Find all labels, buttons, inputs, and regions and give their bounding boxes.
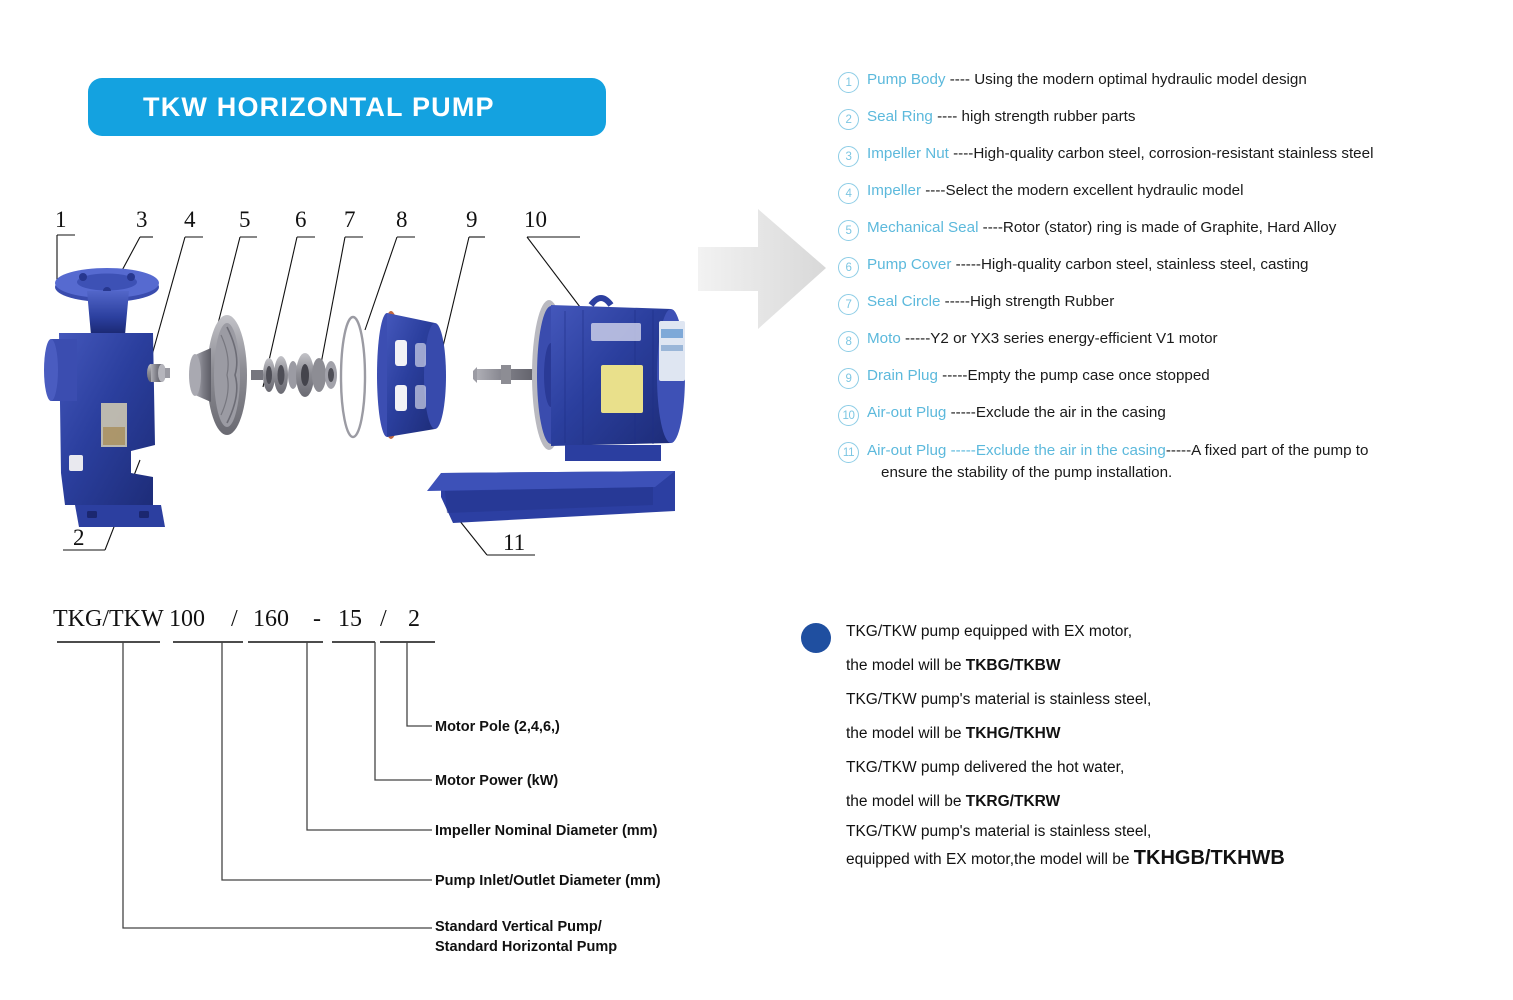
seal-circle-part [341, 317, 365, 437]
motor-part [427, 298, 685, 523]
callout-number-11: 11 [503, 530, 525, 555]
legend-number-circle: 9 [838, 368, 859, 389]
legend-separator: ----- [946, 442, 976, 459]
legend-separator: ----- [946, 404, 976, 421]
impeller-part [189, 315, 247, 435]
model-code-breakdown: TKG/TKW 100 / 160 - 15 / 2 Motor Pole (2… [35, 598, 735, 958]
legend-separator: ---- [921, 182, 945, 199]
legend-part-name: Seal Ring [867, 108, 933, 125]
note-line: TKG/TKW pump equipped with EX motor, [846, 615, 1421, 649]
legend-item: 10 Air-out Plug -----Exclude the air in … [838, 403, 1498, 426]
legend-number-circle: 5 [838, 220, 859, 241]
legend-item: 2 Seal Ring ---- high strength rubber pa… [838, 107, 1498, 130]
legend-separator: ----- [940, 293, 970, 310]
model-desc-standard-1: Standard Vertical Pump/ [435, 919, 602, 935]
legend-text: Pump Body ---- Using the modern optimal … [867, 70, 1498, 90]
note-model-code: TKBG/TKBW [966, 657, 1061, 674]
legend-item: 4 Impeller ----Select the modern excelle… [838, 181, 1498, 204]
note-line: the model will be TKBG/TKBW [846, 649, 1421, 683]
legend-text: Air-out Plug -----Exclude the air in the… [867, 403, 1498, 423]
callout-number-8: 8 [396, 207, 408, 232]
legend-number-circle: 3 [838, 146, 859, 167]
legend-description-line2: ensure the stability of the pump install… [867, 462, 1498, 484]
legend-separator: ----- [951, 256, 981, 273]
note-model-code-large: TKHGB/TKHWB [1134, 847, 1285, 869]
model-token-impeller: 160 [253, 606, 289, 632]
legend-separator: ---- [978, 219, 1002, 236]
note-text: the model will be [846, 725, 966, 742]
pump-body-part [44, 268, 165, 527]
note-line: equipped with EX motor,the model will be… [846, 845, 1421, 873]
legend-item: 1 Pump Body ---- Using the modern optima… [838, 70, 1498, 93]
model-desc-motor-power: Motor Power (kW) [435, 773, 558, 789]
note-line: the model will be TKHG/TKHW [846, 717, 1421, 751]
model-token-pole: 2 [408, 606, 420, 632]
legend-separator: ---- [949, 145, 973, 162]
legend-part-name: Air-out Plug [867, 404, 946, 421]
bullet-circle-icon [801, 623, 831, 653]
note-model-code: TKHG/TKHW [966, 725, 1061, 742]
note-text: the model will be [846, 793, 966, 810]
legend-number-circle: 7 [838, 294, 859, 315]
note-text: TKG/TKW pump's material is stainless ste… [846, 823, 1151, 840]
legend-separator-2: ----- [1166, 442, 1191, 459]
note-model-code: TKRG/TKRW [966, 793, 1060, 810]
pump-cover-part [377, 311, 446, 439]
page-title: TKW HORIZONTAL PUMP [143, 92, 495, 123]
legend-text: Seal Ring ---- high strength rubber part… [867, 107, 1498, 127]
callout-number-5: 5 [239, 207, 251, 232]
callout-number-4: 4 [184, 207, 196, 232]
legend-text: Moto -----Y2 or YX3 series energy-effici… [867, 329, 1498, 349]
legend-part-name: Impeller [867, 182, 921, 199]
legend-part-name: Moto [867, 330, 901, 347]
legend-description-blue: Exclude the air in the casing [976, 442, 1166, 459]
legend-text: Drain Plug -----Empty the pump case once… [867, 366, 1498, 386]
callout-number-1: 1 [55, 207, 67, 232]
legend-number-circle: 4 [838, 183, 859, 204]
exploded-pump-diagram: 1 3 4 5 6 7 8 9 10 2 11 [35, 205, 695, 570]
note-line: TKG/TKW pump's material is stainless ste… [846, 683, 1421, 717]
model-desc-inlet-dia: Pump Inlet/Outlet Diameter (mm) [435, 873, 661, 889]
legend-text: Seal Circle -----High strength Rubber [867, 292, 1498, 312]
legend-item: 5 Mechanical Seal ----Rotor (stator) rin… [838, 218, 1498, 241]
legend-description: Using the modern optimal hydraulic model… [974, 71, 1307, 88]
note-line: the model will be TKRG/TKRW [846, 785, 1421, 819]
legend-number-circle: 11 [838, 442, 859, 463]
legend-part-name: Pump Cover [867, 256, 951, 273]
legend-item: 7 Seal Circle -----High strength Rubber [838, 292, 1498, 315]
legend-text: Air-out Plug -----Exclude the air in the… [867, 440, 1498, 484]
model-token-slash-1: / [231, 606, 238, 632]
note-text: TKG/TKW pump delivered the hot water, [846, 759, 1124, 776]
legend-separator: ---- [933, 108, 962, 125]
model-token-inlet: 100 [169, 606, 205, 632]
page-title-banner: TKW HORIZONTAL PUMP [88, 78, 606, 136]
legend-separator: ----- [901, 330, 931, 347]
callout-number-3: 3 [136, 207, 148, 232]
right-arrow-icon [696, 205, 828, 335]
legend-description: A fixed part of the pump to [1191, 442, 1368, 459]
legend-part-name: Seal Circle [867, 293, 940, 310]
legend-separator: ---- [946, 71, 975, 88]
legend-text: Impeller Nut ----High-quality carbon ste… [867, 144, 1498, 164]
callout-number-10: 10 [524, 207, 547, 232]
callout-number-9: 9 [466, 207, 478, 232]
note-text: equipped with EX motor,the model will be [846, 851, 1134, 868]
note-line: TKG/TKW pump's material is stainless ste… [846, 819, 1421, 845]
legend-description: High strength Rubber [970, 293, 1114, 310]
note-text: TKG/TKW pump's material is stainless ste… [846, 691, 1151, 708]
model-token-prefix: TKG/TKW [53, 606, 164, 632]
legend-item: 8 Moto -----Y2 or YX3 series energy-effi… [838, 329, 1498, 352]
legend-number-circle: 8 [838, 331, 859, 352]
legend-item: 6 Pump Cover -----High-quality carbon st… [838, 255, 1498, 278]
legend-item: 9 Drain Plug -----Empty the pump case on… [838, 366, 1498, 389]
notes-lines: TKG/TKW pump equipped with EX motor, the… [846, 615, 1421, 873]
callout-number-7: 7 [344, 207, 356, 232]
legend-number-circle: 2 [838, 109, 859, 130]
legend-item: 3 Impeller Nut ----High-quality carbon s… [838, 144, 1498, 167]
legend-separator: ----- [938, 367, 968, 384]
legend-description: Empty the pump case once stopped [967, 367, 1209, 384]
legend-part-name: Mechanical Seal [867, 219, 978, 236]
legend-description: Exclude the air in the casing [976, 404, 1166, 421]
model-desc-impeller-dia: Impeller Nominal Diameter (mm) [435, 823, 658, 839]
legend-item: 11 Air-out Plug -----Exclude the air in … [838, 440, 1498, 484]
model-token-power: 15 [338, 606, 362, 632]
legend-part-name: Drain Plug [867, 367, 938, 384]
callout-number-6: 6 [295, 207, 307, 232]
legend-text: Pump Cover -----High-quality carbon stee… [867, 255, 1498, 275]
legend-text: Mechanical Seal ----Rotor (stator) ring … [867, 218, 1498, 238]
legend-description: High-quality carbon steel, stainless ste… [981, 256, 1309, 273]
legend-description: high strength rubber parts [962, 108, 1136, 125]
legend-description: Y2 or YX3 series energy-efficient V1 mot… [930, 330, 1217, 347]
legend-description: Select the modern excellent hydraulic mo… [945, 182, 1243, 199]
legend-description: High-quality carbon steel, corrosion-res… [973, 145, 1373, 162]
model-variants-notes: TKG/TKW pump equipped with EX motor, the… [801, 615, 1421, 873]
legend-number-circle: 1 [838, 72, 859, 93]
legend-text: Impeller ----Select the modern excellent… [867, 181, 1498, 201]
note-text: the model will be [846, 657, 966, 674]
mechanical-seal-part [251, 353, 337, 397]
model-token-dash: - [313, 606, 321, 632]
legend-description: Rotor (stator) ring is made of Graphite,… [1003, 219, 1336, 236]
legend-number-circle: 6 [838, 257, 859, 278]
impeller-nut-part [147, 364, 170, 382]
model-desc-standard-2: Standard Horizontal Pump [435, 939, 617, 955]
model-desc-motor-pole: Motor Pole (2,4,6,) [435, 719, 560, 735]
parts-legend-list: 1 Pump Body ---- Using the modern optima… [838, 70, 1498, 498]
legend-part-name: Pump Body [867, 71, 946, 88]
note-text: TKG/TKW pump equipped with EX motor, [846, 623, 1132, 640]
legend-number-circle: 10 [838, 405, 859, 426]
model-token-slash-2: / [380, 606, 387, 632]
legend-part-name: Impeller Nut [867, 145, 949, 162]
note-line: TKG/TKW pump delivered the hot water, [846, 751, 1421, 785]
callout-number-2: 2 [73, 525, 85, 550]
legend-part-name: Air-out Plug [867, 442, 946, 459]
